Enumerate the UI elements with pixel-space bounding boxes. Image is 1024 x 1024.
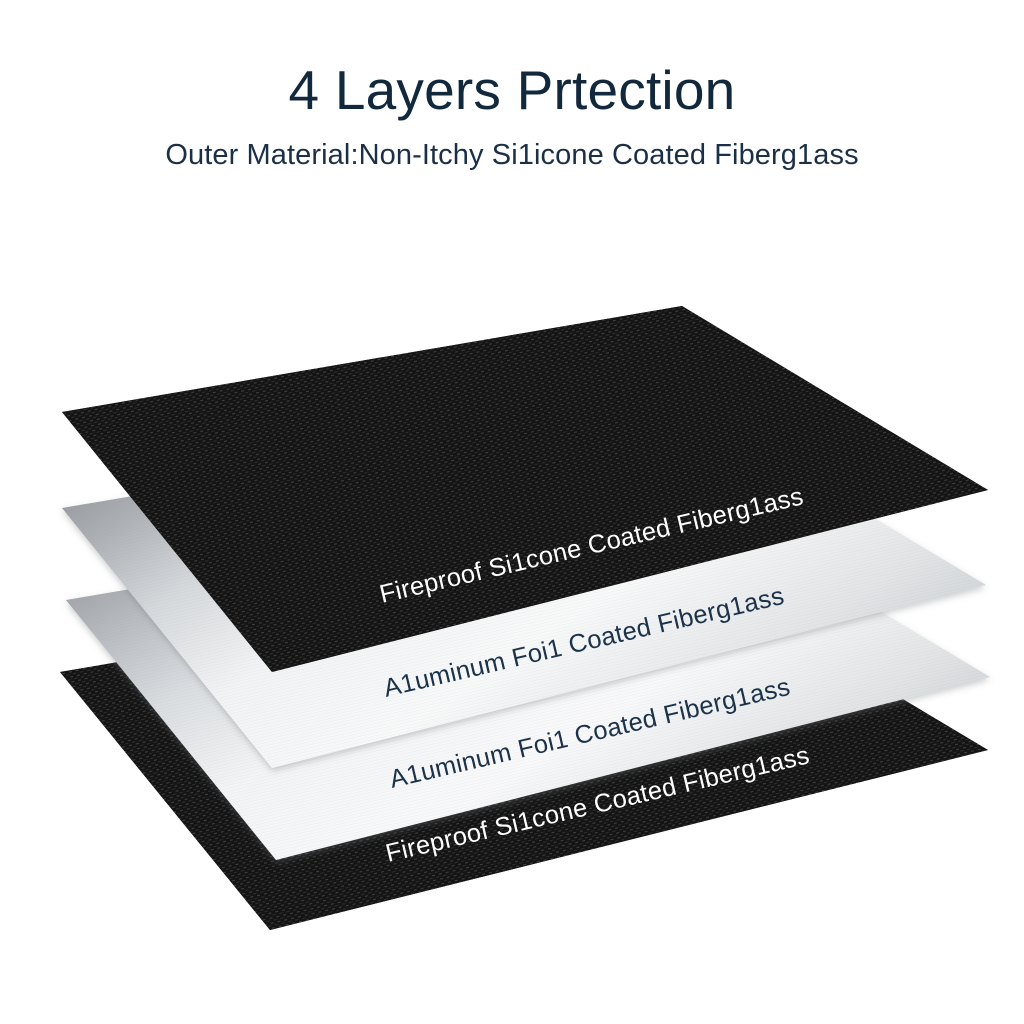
product-infographic: 4 Layers Prtection Outer Material:Non-It… xyxy=(0,0,1024,1024)
exploded-layer-diagram: Fireproof Si1cone Coated Fiberg1ass A1um… xyxy=(0,0,1024,1024)
